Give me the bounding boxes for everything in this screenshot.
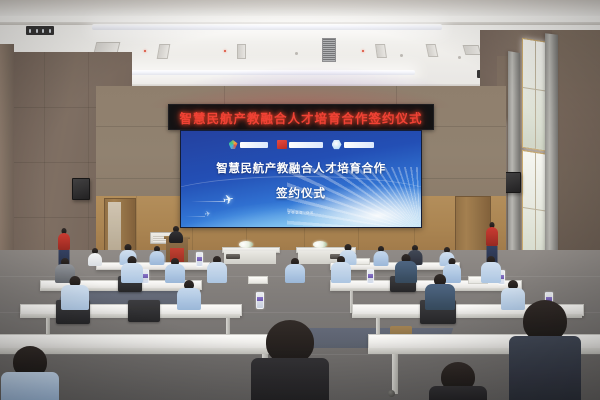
water-bottle-b2 — [367, 269, 374, 284]
right-wall-panel-outer — [552, 30, 600, 280]
attendee-c3 — [424, 274, 456, 308]
attendee-a4 — [372, 246, 390, 265]
ceiling-light-strip-1 — [92, 24, 442, 30]
cloud-aviation-wordmark — [344, 142, 374, 148]
smoke-detector-1 — [144, 50, 146, 52]
foreground-attendee-center — [250, 320, 330, 400]
airplane-graphic-large: ✈ — [222, 192, 235, 207]
signing-folder-left — [226, 254, 240, 259]
ceiling-air-vent-4 — [322, 38, 336, 62]
attendee-a7 — [86, 248, 103, 265]
ceiling-fixture-4 — [458, 56, 461, 59]
ceiling-air-vent-7 — [463, 45, 482, 55]
ceiling-fixture-2 — [295, 52, 298, 55]
ceiling-air-vent-5 — [375, 44, 387, 58]
screen-title-line1: 智慧民航产教融合人才培育合作 — [187, 161, 415, 176]
podium-speaker — [168, 226, 184, 242]
foreground-attendee-left — [0, 346, 60, 400]
left-wall-edge-highlight — [0, 44, 14, 284]
screen-title-line2: 签约仪式 — [181, 185, 421, 201]
wall-speaker-right — [504, 172, 521, 193]
partner-institute-wordmark — [289, 142, 323, 148]
attendee-b2 — [164, 258, 186, 282]
floral-arrangement-left — [239, 241, 253, 248]
name-placard-b1 — [248, 276, 268, 284]
projection-screen: 智慧民航产教融合人才培育合作 签约仪式 ✈ ✈ 2020.08 — [180, 130, 422, 228]
led-banner: 智慧民航产教融合人才培育合作签约仪式 — [168, 104, 434, 130]
smoke-detector-3 — [362, 50, 364, 52]
cloud-aviation-logo — [332, 139, 374, 150]
conference-hall-photo: 智慧民航产教融合人才培育合作签约仪式 智慧民航产教融合人才培育合作 签约仪式 ✈ — [0, 0, 600, 400]
attendee-c2 — [176, 280, 202, 308]
smoke-detector-2 — [224, 50, 226, 52]
screen-date: 2020.08 — [181, 210, 421, 215]
floral-arrangement-right — [313, 241, 327, 248]
southwest-airlines-wordmark — [240, 142, 268, 148]
ceiling-shadow-band — [0, 0, 600, 16]
attendee-b4 — [284, 258, 306, 282]
attendee-c1 — [60, 276, 90, 308]
foreground-attendee-right-low — [428, 362, 488, 400]
chair-c2[interactable] — [128, 300, 160, 322]
southwest-airlines-mark-icon — [229, 140, 238, 149]
airplane-trail-1 — [191, 201, 225, 202]
partner-institute-badge-icon — [277, 140, 287, 149]
water-bottle-c2 — [256, 292, 264, 309]
screen-logo-row — [181, 138, 421, 151]
foreground-attendee-right — [508, 300, 582, 400]
attendee-b1 — [120, 256, 144, 282]
ceiling-air-vent-3 — [237, 44, 246, 59]
southwest-airlines-logo — [229, 139, 268, 150]
led-banner-text: 智慧民航产教融合人才培育合作签约仪式 — [169, 105, 433, 129]
water-bottle-a1 — [196, 252, 203, 267]
wall-speaker-left — [72, 178, 90, 200]
attendee-b5 — [330, 256, 352, 282]
partner-institute-logo — [277, 139, 323, 150]
ceiling-fixture-3 — [400, 54, 403, 57]
attendee-b6 — [394, 254, 418, 282]
airplane-trail-2 — [185, 216, 205, 217]
attendee-b3 — [206, 256, 228, 282]
curtain-right-outer — [545, 33, 558, 285]
cloud-aviation-hex-icon — [332, 140, 342, 150]
attendee-b8 — [480, 256, 502, 282]
ceiling-spotlight-cluster-left — [26, 26, 54, 35]
